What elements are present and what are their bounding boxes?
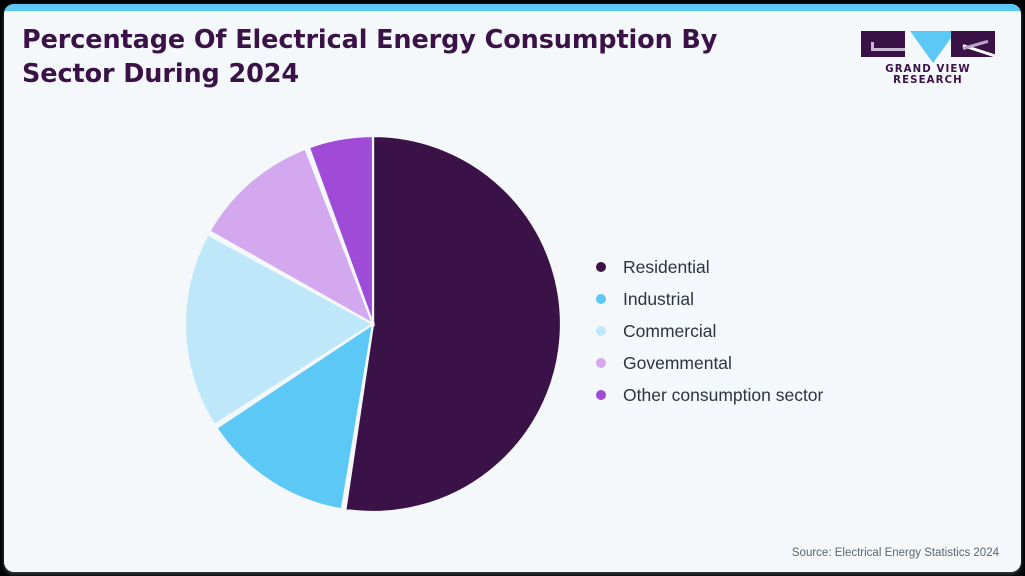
pie-chart: ResidentialIndustrialCommercialGovemment… (4, 114, 1021, 534)
source-note: Source: Electrical Energy Statistics 202… (792, 547, 999, 559)
logo-left-block-icon (861, 31, 905, 57)
legend-item[interactable]: Other consumption sector (596, 379, 966, 411)
logo-bar-horizontal (871, 48, 905, 51)
brand-logo: GRAND VIEW RESEARCH (853, 28, 1003, 81)
legend-item[interactable]: Residential (596, 251, 966, 283)
accent-top-bar (4, 4, 1021, 11)
logo-triangle-icon (910, 31, 956, 63)
legend-item-label: Other consumption sector (623, 385, 823, 406)
pie-slices (185, 136, 561, 512)
chart-legend: ResidentialIndustrialCommercialGovemment… (596, 251, 966, 411)
legend-swatch-icon (596, 262, 606, 272)
chart-card: Percentage Of Electrical Energy Consumpt… (4, 4, 1021, 572)
pie-slice[interactable] (345, 136, 561, 512)
pie-graphic (183, 134, 563, 514)
legend-swatch-icon (596, 294, 606, 304)
logo-marks (853, 28, 1003, 60)
legend-item-label: Industrial (623, 289, 694, 310)
logo-wordmark: GRAND VIEW RESEARCH (853, 64, 1003, 86)
page-title: Percentage Of Electrical Energy Consumpt… (22, 24, 722, 91)
legend-item[interactable]: Govemmental (596, 347, 966, 379)
legend-item-label: Govemmental (623, 353, 732, 374)
legend-item[interactable]: Commercial (596, 315, 966, 347)
logo-bar-vertical (871, 42, 874, 51)
legend-swatch-icon (596, 358, 606, 368)
legend-item-label: Commercial (623, 321, 716, 342)
logo-right-block-icon (951, 31, 995, 57)
legend-item-label: Residential (623, 257, 710, 278)
legend-swatch-icon (596, 326, 606, 336)
legend-item[interactable]: Industrial (596, 283, 966, 315)
legend-swatch-icon (596, 390, 606, 400)
pie-svg (183, 134, 563, 514)
